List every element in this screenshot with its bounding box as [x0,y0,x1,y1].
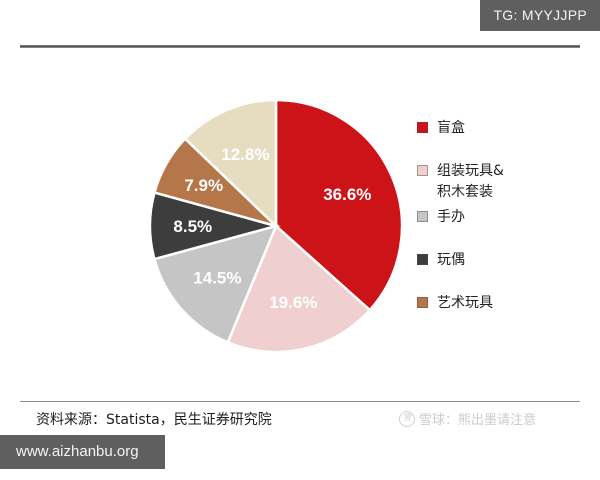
legend-label-1: 组装玩具& 积木套装 [437,161,504,203]
legend-label-2: 手办 [437,207,465,228]
legend-item-1[interactable]: 组装玩具& 积木套装 [417,161,587,203]
pie-slice-label-3: 8.5% [173,217,212,236]
pie-chart-svg: 36.6%19.6%14.5%8.5%7.9%12.8% [145,95,407,357]
tg-badge: TG: MYYJJPP [480,0,600,31]
watermark: 雪 雪球：熊出墨请注意 [399,409,536,428]
legend-item-3[interactable]: 玩偶 [417,250,587,271]
watermark-text: 雪球：熊出墨请注意 [419,409,536,428]
pie-chart: 36.6%19.6%14.5%8.5%7.9%12.8% [145,95,407,357]
legend-swatch-4 [417,297,428,308]
pie-slice-label-4: 7.9% [184,176,223,195]
source-note: 资料来源：Statista，民生证券研究院 [36,409,272,429]
legend-item-0[interactable]: 盲盒 [417,118,587,139]
url-badge: www.aizhanbu.org [0,435,165,469]
bottom-divider [20,401,580,402]
legend-swatch-1 [417,165,428,176]
pie-slice-label-2: 14.5% [193,269,241,288]
legend-label-0: 盲盒 [437,118,465,139]
chart-legend: 盲盒 组装玩具& 积木套装 手办 玩偶 艺术玩具 [417,118,587,318]
legend-item-4[interactable]: 艺术玩具 [417,293,587,314]
pie-slice-label-5: 12.8% [221,145,269,164]
pie-slice-label-0: 36.6% [323,185,371,204]
legend-label-4: 艺术玩具 [437,293,493,314]
top-divider [20,45,580,48]
slide-canvas: TG: MYYJJPP 36.6%19.6%14.5%8.5%7.9%12.8%… [0,0,600,480]
legend-label-3: 玩偶 [437,250,465,271]
pie-slice-label-1: 19.6% [269,293,317,312]
legend-swatch-3 [417,254,428,265]
snowball-logo-icon: 雪 [399,411,415,427]
legend-swatch-0 [417,122,428,133]
legend-swatch-2 [417,211,428,222]
legend-item-2[interactable]: 手办 [417,207,587,228]
